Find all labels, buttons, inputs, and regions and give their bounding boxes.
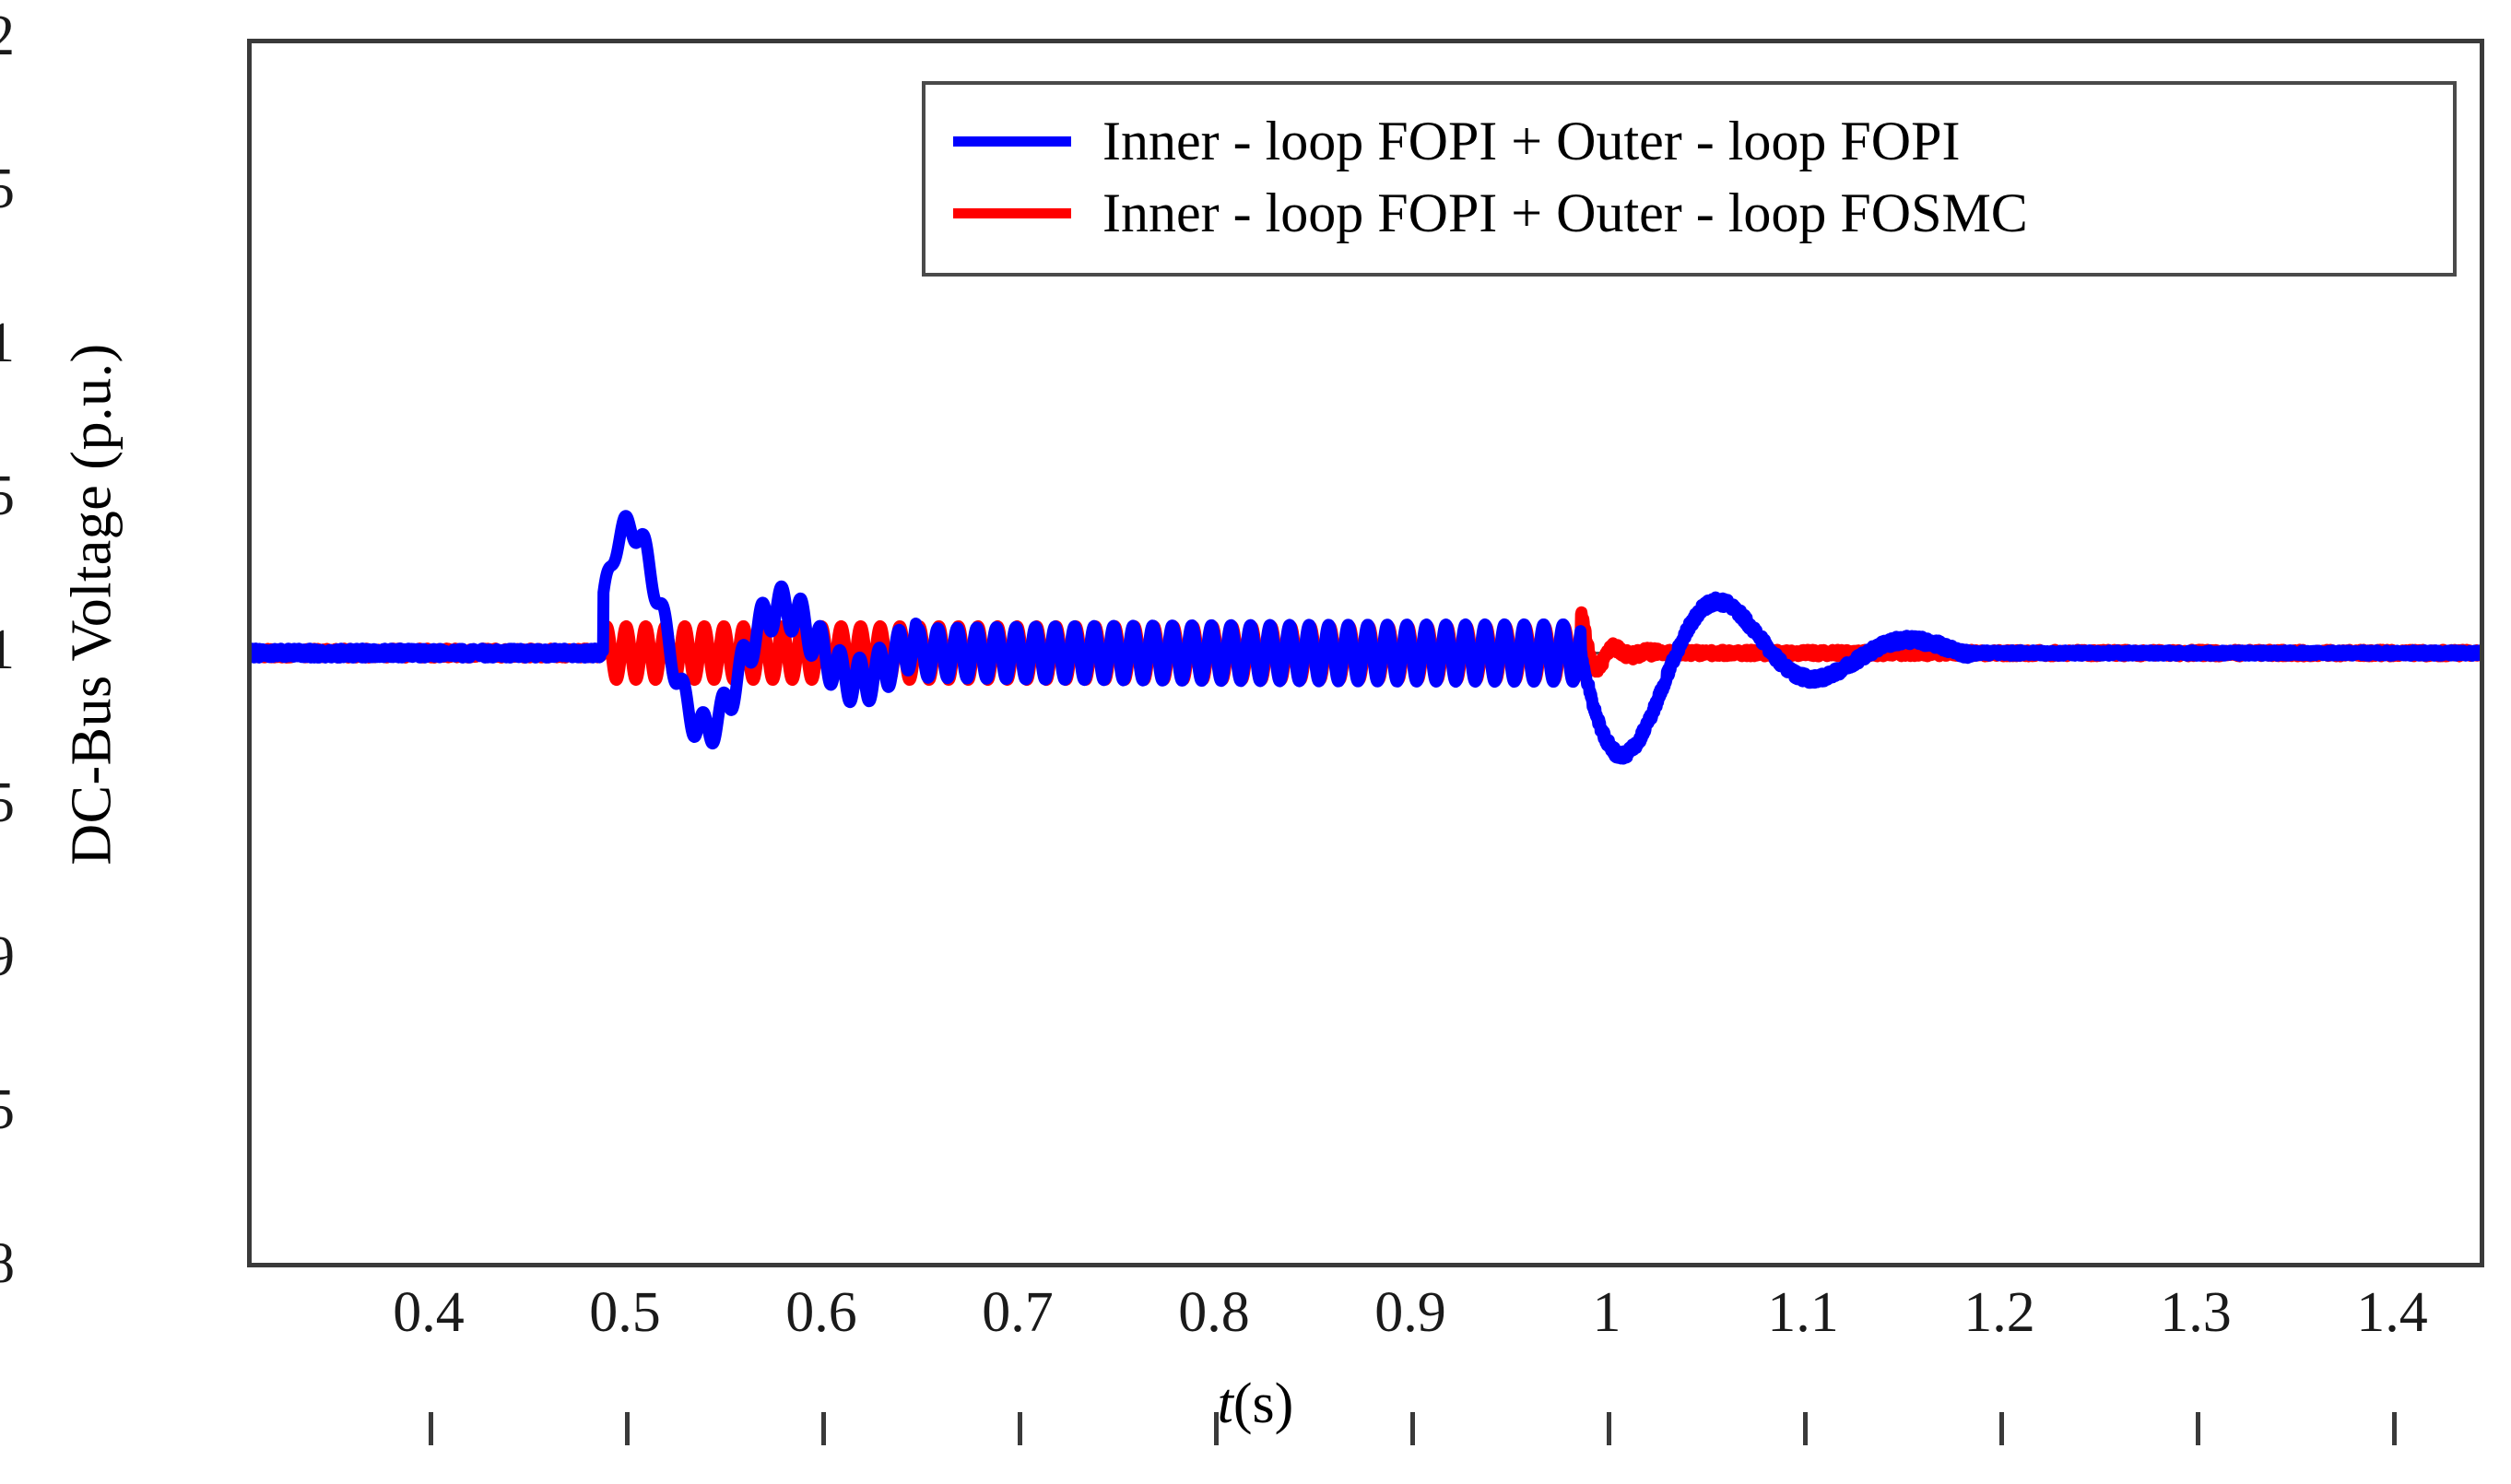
x-tick-label: 1 xyxy=(1593,1284,1621,1341)
y-tick-label: 1.2 xyxy=(0,7,15,65)
y-tick-label: 0.8 xyxy=(0,1235,15,1292)
legend-label: Inner - loop FOPI + Outer - loop FOSMC xyxy=(1102,185,2028,241)
x-tick-label: 1.1 xyxy=(1767,1284,1839,1341)
figure-canvas: DC-Bus Voltage (p.u.) 1.2 1.15 1.1 1.05 … xyxy=(0,0,2511,1484)
legend-entry-fosmc[interactable]: Inner - loop FOPI + Outer - loop FOSMC xyxy=(953,177,2425,249)
y-tick-label: 1.1 xyxy=(0,314,15,371)
x-tick-label: 0.6 xyxy=(785,1284,857,1341)
legend-label: Inner - loop FOPI + Outer - loop FOPI xyxy=(1102,113,1960,169)
x-tick-label: 0.5 xyxy=(589,1284,661,1341)
x-tick-label: 1.4 xyxy=(2356,1284,2428,1341)
y-tick-label: 0.9 xyxy=(0,928,15,985)
x-axis-title-variable: t xyxy=(1218,1372,1233,1435)
blue-line-swatch-icon xyxy=(953,136,1071,147)
x-axis-title: t(s) xyxy=(0,1372,2511,1437)
x-tick-label: 0.8 xyxy=(1178,1284,1250,1341)
y-tick-label: 1.15 xyxy=(0,160,15,218)
x-tick-label: 0.7 xyxy=(982,1284,1054,1341)
x-tick-label: 0.9 xyxy=(1374,1284,1446,1341)
legend-entry-fopi[interactable]: Inner - loop FOPI + Outer - loop FOPI xyxy=(953,105,2425,177)
x-axis-title-unit: (s) xyxy=(1233,1372,1293,1435)
y-tick-label: 1 xyxy=(0,621,15,678)
x-tick-label: 0.4 xyxy=(393,1284,465,1341)
y-tick-label: 1.05 xyxy=(0,467,15,524)
series-line-fopi xyxy=(252,516,2480,759)
red-line-swatch-icon xyxy=(953,208,1071,218)
y-tick-label: 0.95 xyxy=(0,774,15,831)
y-tick-label: 0.85 xyxy=(0,1081,15,1138)
x-tick-label: 1.3 xyxy=(2160,1284,2232,1341)
legend-box: Inner - loop FOPI + Outer - loop FOPI In… xyxy=(922,81,2457,277)
x-tick-label: 1.2 xyxy=(1963,1284,2035,1341)
y-axis-title: DC-Bus Voltage (p.u.) xyxy=(60,236,125,973)
